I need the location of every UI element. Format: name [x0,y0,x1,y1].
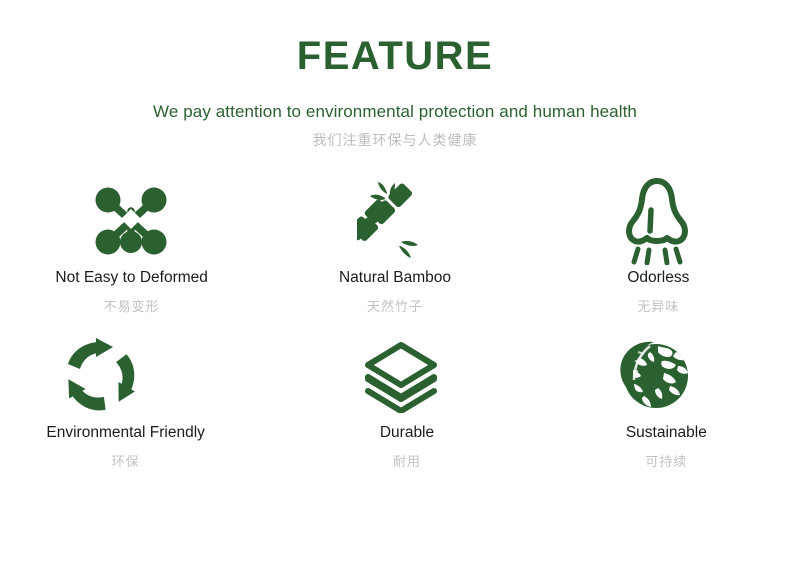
feature-label-en: Odorless [627,269,689,288]
recycle-arrows-icon [59,330,141,422]
feature-section: FEATURE We pay attention to environmenta… [0,0,790,576]
feature-item-environmental-friendly: Environmental Friendly 环保 [0,330,263,485]
feature-label-en: Environmental Friendly [46,424,205,443]
page-title: FEATURE [0,36,790,76]
section-header: FEATURE We pay attention to environmenta… [0,0,790,149]
feature-label-cn: 耐用 [393,454,421,470]
feature-label-en: Durable [380,424,434,443]
feature-label-cn: 环保 [112,454,140,470]
subtitle-chinese: 我们注重环保与人类健康 [0,132,790,149]
stacked-layers-icon [362,330,440,422]
feature-item-natural-bamboo: Natural Bamboo 天然竹子 [263,175,526,330]
molecule-lattice-icon [93,175,169,267]
feature-item-not-easy-to-deformed: Not Easy to Deformed 不易变形 [0,175,263,330]
feature-label-cn: 可持续 [645,454,687,470]
feature-label-cn: 不易变形 [104,299,160,315]
nose-smell-icon [624,175,690,267]
feature-label-cn: 天然竹子 [367,299,423,315]
feature-label-en: Sustainable [626,424,707,443]
feature-label-cn: 无异味 [637,299,679,315]
feature-item-durable: Durable 耐用 [263,330,526,485]
feature-label-en: Not Easy to Deformed [55,269,207,288]
subtitle-english: We pay attention to environmental protec… [0,102,790,122]
feature-grid: Not Easy to Deformed 不易变形 [0,175,790,485]
bamboo-stalks-icon [357,175,429,267]
feature-label-en: Natural Bamboo [339,269,451,288]
feature-item-odorless: Odorless 无异味 [527,175,790,330]
globe-leaf-icon [614,330,694,422]
feature-item-sustainable: Sustainable 可持续 [527,330,790,485]
